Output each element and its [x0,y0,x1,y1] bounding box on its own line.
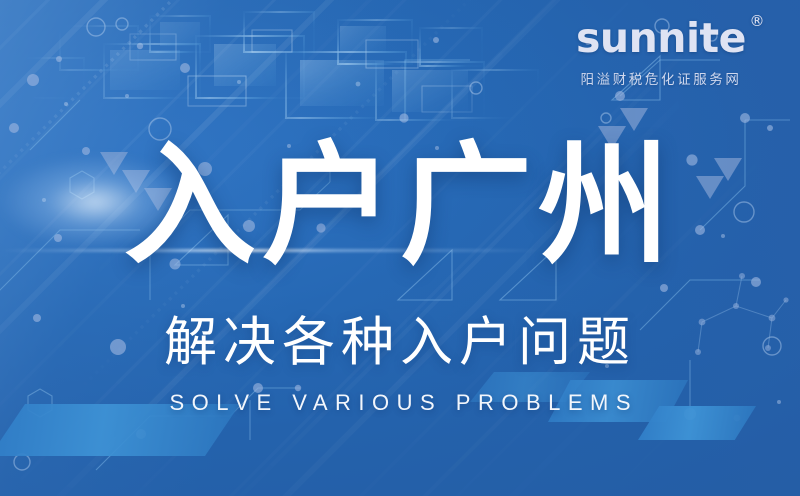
tech-grid-glow [0,0,560,150]
promotional-banner: sunnite ® 阳溢财税危化证服务网 入户广州 解决各种入户问题 SOLVE… [0,0,800,496]
brand-wordmark-text: sunnite [576,14,746,62]
headline-title: 入户广州 [0,140,800,272]
brand-wordmark: sunnite ® [576,18,746,59]
english-subtitle: SOLVE VARIOUS PROBLEMS [0,392,800,414]
brand-logo[interactable]: sunnite ® 阳溢财税危化证服务网 [546,18,776,88]
registered-trademark-icon: ® [749,14,764,29]
subheadline-text: 解决各种入户问题 [0,313,800,372]
brand-tagline: 阳溢财税危化证服务网 [546,68,776,88]
